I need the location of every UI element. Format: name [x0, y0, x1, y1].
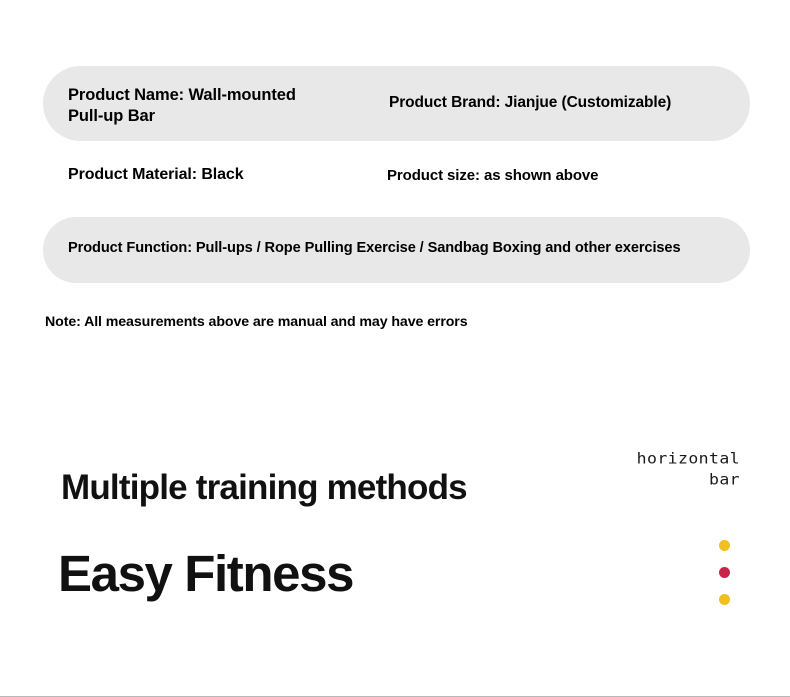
hero-headline-secondary: Easy Fitness — [58, 544, 353, 603]
hero-headline-primary: Multiple training methods — [61, 468, 467, 508]
spec-product-name: Product Name: Wall-mounted Pull-up Bar — [68, 85, 368, 127]
dot-yellow-top — [719, 540, 730, 551]
spec-product-material: Product Material: Black — [68, 165, 244, 185]
dot-yellow-bottom — [719, 594, 730, 605]
brand-logo-line-bar: bar — [600, 470, 740, 489]
dot-red-middle — [719, 567, 730, 578]
product-detail-page: Product Name: Wall-mounted Pull-up Bar P… — [0, 0, 790, 697]
decorative-dot-column — [715, 540, 733, 605]
spec-measurement-note: Note: All measurements above are manual … — [45, 313, 468, 331]
spec-product-size: Product size: as shown above — [387, 166, 598, 185]
brand-logo: horizontal bar — [600, 448, 740, 490]
brand-logo-line-horizontal: horizontal — [600, 449, 740, 468]
spec-product-function: Product Function: Pull-ups / Rope Pullin… — [68, 239, 680, 258]
hero-block: Multiple training methods Easy Fitness h… — [0, 430, 790, 650]
spec-product-brand: Product Brand: Jianjue (Customizable) — [389, 93, 739, 113]
